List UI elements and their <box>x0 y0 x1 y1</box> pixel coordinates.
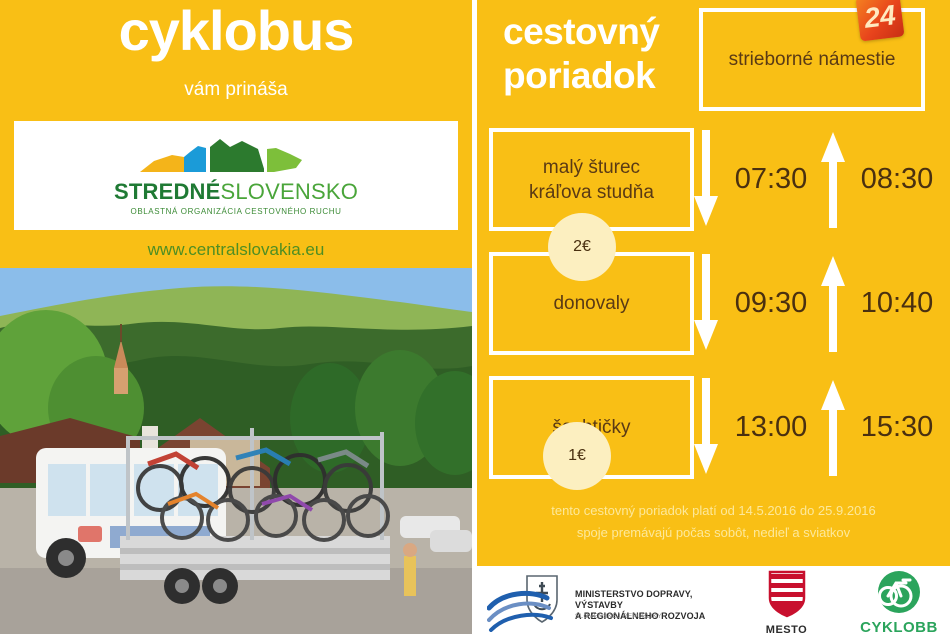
right-panel: cestovný poriadok strieborné námestie 24… <box>477 0 950 634</box>
partner-ministry-logo: MINISTERSTVO DOPRAVY, VÝSTAVBY A REGIONÁ… <box>487 572 732 632</box>
validity-note: tento cestovný poriadok platí od 14.5.20… <box>477 500 950 544</box>
price-badge: 1€ <box>543 422 611 490</box>
departure-time: 07:30 <box>725 128 817 231</box>
arrow-up-icon <box>820 378 846 476</box>
partner-city-logo: MESTO <box>739 570 834 634</box>
left-panel: cyklobus vám prináša STREDNÉSLOVENSKO OB… <box>0 0 472 634</box>
schedule-title: cestovný poriadok <box>503 10 708 98</box>
badge-24-icon: 24 <box>855 0 904 42</box>
bicycle-circle-icon <box>877 570 921 614</box>
city-shield-icon <box>766 570 808 618</box>
arrow-down-icon <box>693 254 719 352</box>
partner-cyklo-logo: CYKLOBB <box>849 570 949 634</box>
ministry-subtitle: SLOVENSKEJ REPUBLIKY <box>575 613 662 620</box>
departure-time: 13:00 <box>725 376 817 479</box>
logo-tagline: OBLASTNÁ ORGANIZÁCIA CESTOVNÉHO RUCHU <box>131 207 342 216</box>
destination-label: strieborné námestie <box>729 49 896 71</box>
brand-subtitle: vám prináša <box>0 78 472 102</box>
stop-name: malý šturec kráľova studňa <box>529 155 654 205</box>
logo-wordmark: STREDNÉSLOVENSKO <box>114 179 358 205</box>
photo-illustration <box>0 268 472 634</box>
poster-canvas: cyklobus vám prináša STREDNÉSLOVENSKO OB… <box>0 0 950 634</box>
photo-bus-with-bikes <box>0 268 472 634</box>
website-url[interactable]: www.centralslovakia.eu <box>0 240 472 260</box>
cyklo-label: CYKLOBB <box>849 619 949 634</box>
arrow-up-icon <box>820 130 846 228</box>
stredne-slovensko-logo: STREDNÉSLOVENSKO OBLASTNÁ ORGANIZÁCIA CE… <box>14 121 458 230</box>
slovak-coat-of-arms-icon <box>487 572 573 632</box>
arrow-down-icon <box>693 378 719 476</box>
stop-name: donovaly <box>553 291 629 316</box>
price-badge: 2€ <box>548 213 616 281</box>
table-row: donovaly 09:30 10:40 <box>477 252 950 355</box>
logo-wordmark-light: SLOVENSKO <box>221 179 359 204</box>
arrival-time: 08:30 <box>851 128 943 231</box>
badge-24-number: 24 <box>863 1 897 33</box>
arrival-time: 15:30 <box>851 376 943 479</box>
partner-logos-strip: MINISTERSTVO DOPRAVY, VÝSTAVBY A REGIONÁ… <box>477 566 950 634</box>
city-label: MESTO <box>739 624 834 634</box>
mountain-range-logo-icon <box>134 135 339 175</box>
arrival-time: 10:40 <box>851 252 943 355</box>
departure-time: 09:30 <box>725 252 817 355</box>
logo-wordmark-bold: STREDNÉ <box>114 179 221 204</box>
table-row: malý šturec kráľova studňa 07:30 08:30 <box>477 128 950 231</box>
arrow-up-icon <box>820 254 846 352</box>
page-title: cyklobus <box>0 2 472 60</box>
arrow-down-icon <box>693 130 719 228</box>
